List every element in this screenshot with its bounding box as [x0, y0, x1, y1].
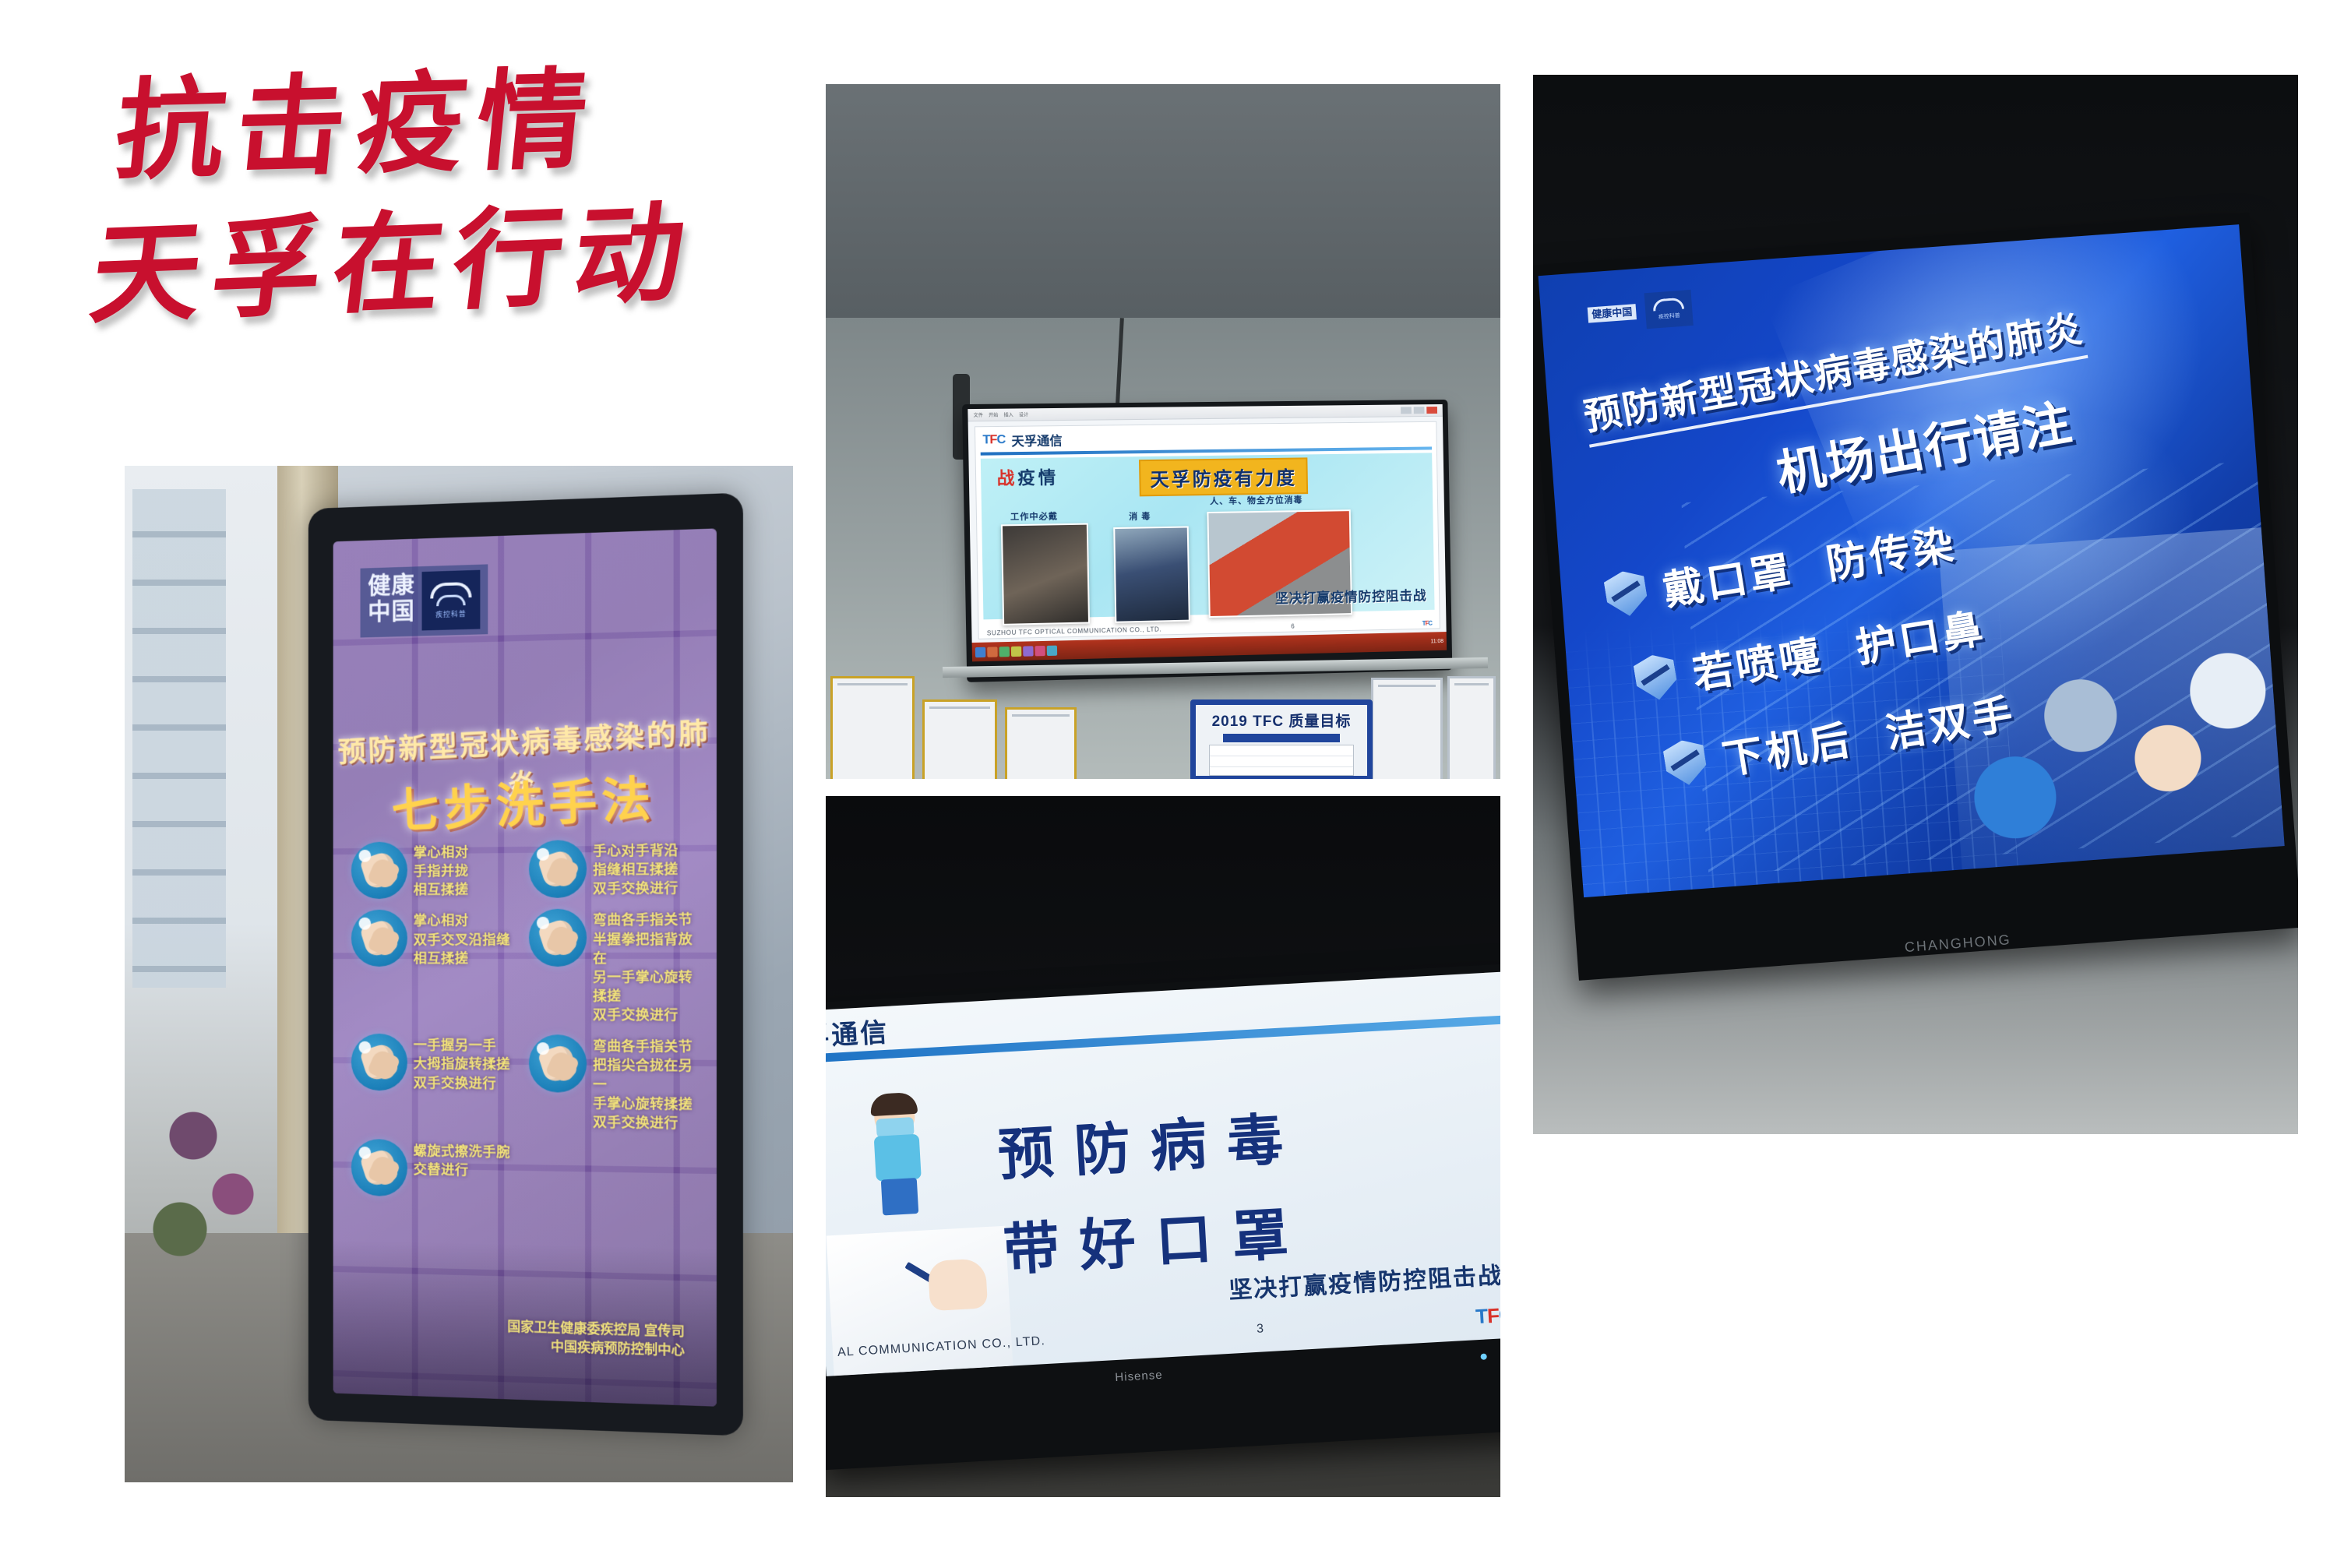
- photo-caption-2: 消 毒: [1129, 509, 1151, 523]
- quality-objective-poster: 2019 TFC 质量目标: [1190, 699, 1373, 779]
- handwash-step-text: 掌心相对双手交叉沿指缝相互揉搓: [414, 909, 510, 967]
- powerpoint-menubar[interactable]: 文件 开始 插入 设计: [968, 404, 1443, 421]
- headline-line-2: 天孚在行动: [83, 181, 750, 346]
- health-china-badge: 健康中国: [1588, 304, 1637, 322]
- photo-purple-kiosk: 健康 中国 疾控科普 预防新型冠状病毒感染的肺炎 七步洗手法 掌心相对手指并拢相…: [125, 466, 793, 1482]
- poster-title: 2019 TFC 质量目标: [1212, 710, 1352, 731]
- photo-hisense-tv: 孚通信 预防病毒 带好口罩 坚决打赢疫情防控阻击战 AL COMMUNICATI…: [826, 796, 1500, 1497]
- poster-table: [1209, 745, 1354, 776]
- credit-right: 中国疾病预防控制中心: [1982, 870, 2209, 897]
- handwash-step-text: 手心对手背沿指缝相互揉搓双手交换进行: [593, 839, 679, 898]
- tv-brand-label: Hisense: [1115, 1369, 1163, 1384]
- hands-palm-to-palm-icon: [351, 841, 407, 899]
- tv-screen: 健康中国 疾控科普 预防新型冠状病毒感染的肺炎 机场出行请注 戴口罩防传染 若喷…: [1539, 224, 2285, 897]
- photo-caption-1: 工作中必戴: [1010, 509, 1058, 523]
- kiosk-credits: 国家卫生健康委疾控局 宣传司 中国疾病预防控制中心: [507, 1317, 685, 1361]
- changhong-tv-unit: 健康中国 疾控科普 预防新型冠状病毒感染的肺炎 机场出行请注 戴口罩防传染 若喷…: [1533, 213, 2298, 981]
- slide-photo-disinfect: [1113, 526, 1190, 622]
- hands-fingertips-icon: [529, 1034, 587, 1093]
- slide-brand-name: 孚通信: [826, 1011, 890, 1054]
- handwash-step: 弯曲各手指关节把指尖合拢在另一手掌心旋转揉搓双手交换进行: [529, 1034, 706, 1133]
- wall-document: [1371, 678, 1443, 779]
- menu-item-design[interactable]: 设计: [1019, 410, 1028, 418]
- wall-document: [1447, 676, 1496, 779]
- poster-subtitle-bar: [1223, 734, 1340, 742]
- shield-check-icon: [1602, 568, 1650, 619]
- slide-heading-blue: 疫情: [1017, 468, 1059, 488]
- hands-wrist-scrub-icon: [351, 1139, 407, 1196]
- wall-document: [830, 676, 915, 779]
- taskbar-icon[interactable]: [1047, 645, 1057, 655]
- slide-slogan: 坚决打赢疫情防控阻击战: [1275, 584, 1427, 607]
- arc-icon: [1652, 298, 1684, 312]
- handwash-step: 螺旋式擦洗手腕交替进行: [351, 1139, 523, 1199]
- close-icon[interactable]: [1426, 407, 1437, 414]
- slide-brand-name: 天孚通信: [1011, 430, 1063, 449]
- headline-line-1: 抗击疫情: [109, 47, 748, 202]
- slide-page-number: 6: [1291, 623, 1295, 630]
- handwash-step: 一手握另一手大拇指旋转揉搓双手交换进行: [351, 1034, 523, 1130]
- photo-changhong-tv: 健康中国 疾控科普 预防新型冠状病毒感染的肺炎 机场出行请注 戴口罩防传染 若喷…: [1533, 75, 2298, 1134]
- room-ceiling: [826, 84, 1500, 341]
- cdc-science-mark-icon: 疾控科普: [1644, 290, 1694, 329]
- page-headline: 抗击疫情 天孚在行动: [117, 55, 740, 333]
- handwash-step: 掌心相对双手交叉沿指缝相互揉搓: [351, 909, 523, 1024]
- handwash-steps-grid: 掌心相对手指并拢相互揉搓 手心对手背沿指缝相互揉搓双手交换进行 掌心相对双手交叉…: [351, 839, 706, 1203]
- kiosk-display-unit: 健康 中国 疾控科普 预防新型冠状病毒感染的肺炎 七步洗手法 掌心相对手指并拢相…: [308, 492, 743, 1436]
- window-controls[interactable]: [1401, 407, 1437, 414]
- handwash-step-text: 弯曲各手指关节把指尖合拢在另一手掌心旋转揉搓双手交换进行: [593, 1035, 705, 1133]
- slide-page-number: 3: [1257, 1322, 1265, 1337]
- hands-knuckles-icon: [529, 909, 587, 967]
- presentation-slide: TFC 天孚通信 战疫情 天孚防疫有力度 工作中必戴 消 毒 人、车、物全方位消…: [975, 421, 1440, 640]
- slide-photo-office: [1001, 523, 1090, 625]
- menu-item-file[interactable]: 文件: [974, 411, 983, 418]
- slide-body: 战疫情 天孚防疫有力度 工作中必戴 消 毒 人、车、物全方位消毒 坚决打赢疫情防…: [981, 453, 1435, 619]
- health-china-logo: 健康 中国 疾控科普: [361, 564, 488, 637]
- taskbar-icon[interactable]: [1035, 645, 1045, 655]
- cartoon-boy-with-mask-icon: [859, 1096, 936, 1224]
- taskbar-icon[interactable]: [999, 647, 1010, 657]
- maximize-icon[interactable]: [1414, 407, 1425, 414]
- handwash-step: 弯曲各手指关节半握拳把指背放在另一手掌心旋转揉搓双手交换进行: [529, 908, 706, 1024]
- slide-heading: 战疫情: [996, 464, 1059, 490]
- hands-back-of-hand-icon: [529, 840, 587, 898]
- wall-mounted-tv: 文件 开始 插入 设计 TFC 天孚通信: [962, 400, 1452, 682]
- logo-line-1: 健康: [368, 572, 414, 599]
- wall-document: [1005, 707, 1077, 779]
- slide-banner-text: 天孚防疫有力度: [1150, 467, 1297, 491]
- tfc-logo-icon: TFC: [982, 433, 1005, 448]
- slide-footer-logo-icon: TFC: [1475, 1303, 1500, 1330]
- cdc-science-mark-icon: 疾控科普: [422, 570, 481, 631]
- handwash-step-text: 掌心相对手指并拢相互揉搓: [414, 841, 469, 899]
- logo-mark-caption: 疾控科普: [435, 608, 466, 619]
- menu-item-insert[interactable]: 插入: [1003, 411, 1013, 418]
- wall-document: [922, 699, 997, 779]
- handwash-step-text: 一手握另一手大拇指旋转揉搓双手交换进行: [414, 1034, 510, 1092]
- background-planter: [140, 1066, 273, 1299]
- slide-heading-red: 战: [997, 468, 1018, 488]
- tv-screen: 孚通信 预防病毒 带好口罩 坚决打赢疫情防控阻击战 AL COMMUNICATI…: [826, 971, 1500, 1376]
- slide-banner: 天孚防疫有力度: [1139, 457, 1308, 496]
- photo-wall-tv-ppt: 文件 开始 插入 设计 TFC 天孚通信: [826, 84, 1500, 779]
- credit-left: 国家卫生健康委疾控局 宣传司: [1632, 890, 1934, 897]
- slide-title-line-1: 预防病毒: [996, 1092, 1305, 1191]
- taskbar-icon[interactable]: [975, 647, 986, 657]
- handwash-step-text: 螺旋式擦洗手腕交替进行: [414, 1140, 510, 1180]
- shield-check-icon: [1662, 737, 1709, 788]
- taskbar-clock[interactable]: 11:08: [1430, 639, 1443, 644]
- screen-logos: 健康中国 疾控科普: [1587, 290, 1694, 333]
- hisense-tv-unit: 孚通信 预防病毒 带好口罩 坚决打赢疫情防控阻击战 AL COMMUNICATI…: [826, 964, 1500, 1470]
- handwash-step: 掌心相对手指并拢相互揉搓: [351, 840, 523, 900]
- handwash-step-text: 弯曲各手指关节半握拳把指背放在另一手掌心旋转揉搓双手交换进行: [593, 908, 705, 1024]
- kiosk-screen: 健康 中国 疾控科普 预防新型冠状病毒感染的肺炎 七步洗手法 掌心相对手指并拢相…: [333, 528, 717, 1406]
- photo-caption-3: 人、车、物全方位消毒: [1210, 493, 1302, 507]
- taskbar-icon[interactable]: [1011, 646, 1021, 656]
- taskbar-icon[interactable]: [987, 647, 998, 657]
- shield-check-icon: [1632, 652, 1680, 703]
- logo-mark-caption: 疾控科普: [1658, 312, 1680, 321]
- menu-item-home[interactable]: 开始: [989, 411, 998, 418]
- hands-interlaced-fingers-icon: [351, 910, 407, 967]
- tv-screen: 文件 开始 插入 设计 TFC 天孚通信: [968, 404, 1447, 661]
- slide-footer-company: SUZHOU TFC OPTICAL COMMUNICATION CO., LT…: [987, 625, 1162, 636]
- slide-footer-logo-icon: TFC: [1422, 620, 1432, 627]
- taskbar-icon[interactable]: [1023, 646, 1033, 656]
- minimize-icon[interactable]: [1401, 407, 1412, 414]
- power-led-indicator: [1480, 1353, 1486, 1359]
- logo-line-2: 中国: [368, 598, 414, 625]
- handwash-step: 手心对手背沿指缝相互揉搓双手交换进行: [529, 839, 706, 899]
- hands-thumb-rotate-icon: [351, 1034, 407, 1091]
